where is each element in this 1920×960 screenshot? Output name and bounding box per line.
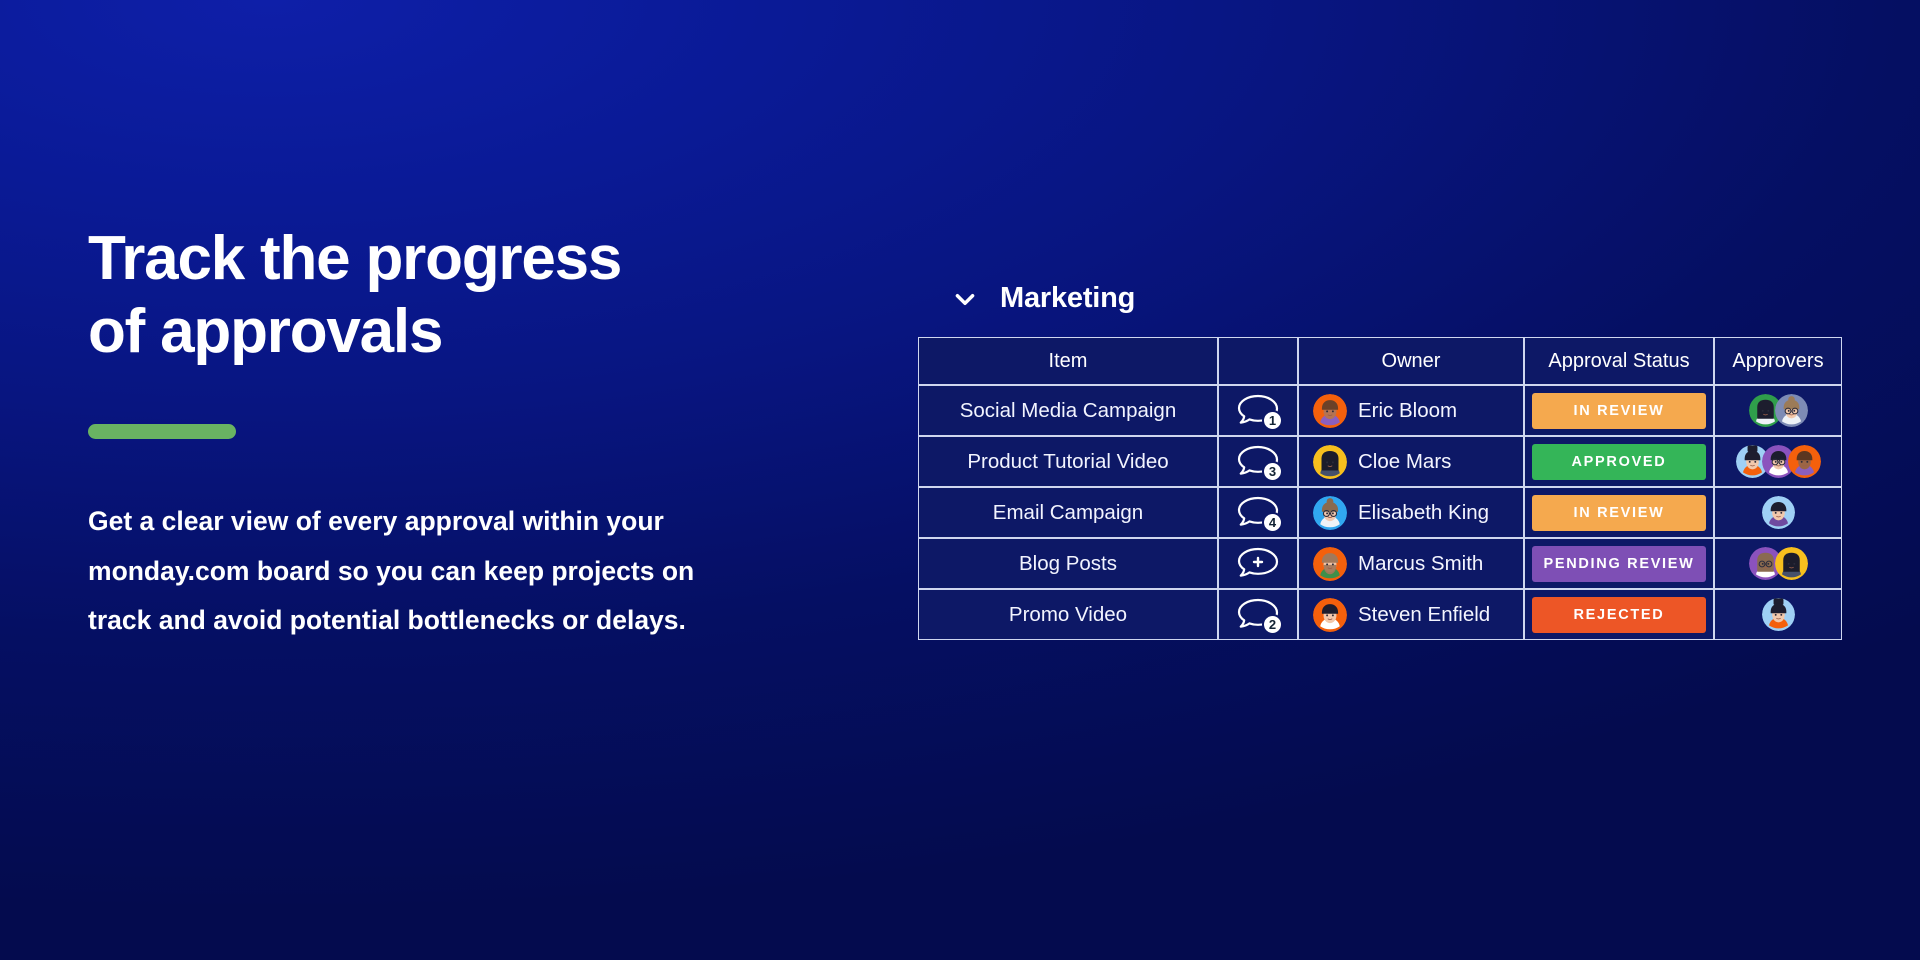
- cell-comments[interactable]: 2: [1218, 589, 1298, 640]
- approver-avatar-group: [1715, 394, 1841, 427]
- comment-count: 1: [1262, 410, 1283, 431]
- board-panel: Marketing Item Owner Approval Status App…: [918, 282, 1842, 640]
- comment-bubble-icon[interactable]: 2: [1235, 598, 1281, 632]
- cell-approvers[interactable]: [1714, 589, 1842, 640]
- approver-avatar-group: [1715, 598, 1841, 631]
- comment-bubble-icon[interactable]: 1: [1235, 394, 1281, 428]
- cell-comments[interactable]: 1: [1218, 385, 1298, 436]
- comment-bubble-icon[interactable]: 3: [1235, 445, 1281, 479]
- cell-comments[interactable]: [1218, 538, 1298, 589]
- cell-approvers[interactable]: [1714, 538, 1842, 589]
- table-header-row: Item Owner Approval Status Approvers: [918, 337, 1842, 385]
- avatar-orange-curly[interactable]: [1788, 445, 1821, 478]
- group-title: Marketing: [1000, 282, 1135, 315]
- avatar-yellow-long-hair[interactable]: [1775, 547, 1808, 580]
- comment-bubble-icon[interactable]: 4: [1235, 496, 1281, 530]
- cell-item[interactable]: Social Media Campaign: [918, 385, 1218, 436]
- accent-divider: [88, 424, 236, 439]
- cell-item[interactable]: Product Tutorial Video: [918, 436, 1218, 487]
- comment-count: 2: [1262, 614, 1283, 635]
- hero-description: Get a clear view of every approval withi…: [88, 497, 728, 645]
- comment-count: 3: [1262, 461, 1283, 482]
- cell-item[interactable]: Blog Posts: [918, 538, 1218, 589]
- avatar-yellow-long-hair: [1313, 445, 1347, 479]
- cell-approvers[interactable]: [1714, 385, 1842, 436]
- cell-item[interactable]: Promo Video: [918, 589, 1218, 640]
- avatar-orange-black-hair: [1313, 598, 1347, 632]
- cell-status[interactable]: REJECTED: [1524, 589, 1714, 640]
- page-title: Track the progress of approvals: [88, 222, 808, 368]
- owner-name: Elisabeth King: [1358, 501, 1489, 525]
- cell-item[interactable]: Email Campaign: [918, 487, 1218, 538]
- cell-approvers[interactable]: [1714, 436, 1842, 487]
- cell-owner[interactable]: Marcus Smith: [1298, 538, 1524, 589]
- avatar-lightblue-dark-hair[interactable]: [1762, 496, 1795, 529]
- approver-avatar-group: [1715, 445, 1841, 478]
- cell-owner[interactable]: Elisabeth King: [1298, 487, 1524, 538]
- cell-status[interactable]: PENDING REVIEW: [1524, 538, 1714, 589]
- avatar-blue-glasses: [1313, 496, 1347, 530]
- cell-approvers[interactable]: [1714, 487, 1842, 538]
- cell-comments[interactable]: 3: [1218, 436, 1298, 487]
- column-header-item[interactable]: Item: [918, 337, 1218, 385]
- approver-avatar-group: [1715, 496, 1841, 529]
- avatar-orange-brown-hair: [1313, 394, 1347, 428]
- approvals-table: Item Owner Approval Status Approvers Soc…: [918, 337, 1842, 640]
- owner-name: Steven Enfield: [1358, 603, 1490, 627]
- table-row[interactable]: Product Tutorial Video 3 Cloe Mars APPRO…: [918, 436, 1842, 487]
- column-header-approvers[interactable]: Approvers: [1714, 337, 1842, 385]
- slide-root: Track the progress of approvals Get a cl…: [0, 0, 1920, 960]
- cell-comments[interactable]: 4: [1218, 487, 1298, 538]
- status-badge[interactable]: REJECTED: [1532, 597, 1706, 633]
- table-body: Social Media Campaign 1 Eric Bloom IN RE…: [918, 385, 1842, 640]
- column-header-status[interactable]: Approval Status: [1524, 337, 1714, 385]
- column-header-owner[interactable]: Owner: [1298, 337, 1524, 385]
- owner-name: Cloe Mars: [1358, 450, 1451, 474]
- table-row[interactable]: Email Campaign 4 Elisabeth King IN REVIE…: [918, 487, 1842, 538]
- group-header[interactable]: Marketing: [918, 282, 1842, 315]
- owner-name: Eric Bloom: [1358, 399, 1457, 423]
- status-badge[interactable]: IN REVIEW: [1532, 495, 1706, 531]
- table-row[interactable]: Promo Video 2 Steven Enfield REJECTED: [918, 589, 1842, 640]
- avatar-lightblue-bun[interactable]: [1762, 598, 1795, 631]
- owner-name: Marcus Smith: [1358, 552, 1483, 576]
- cell-status[interactable]: IN REVIEW: [1524, 487, 1714, 538]
- status-badge[interactable]: PENDING REVIEW: [1532, 546, 1706, 582]
- avatar-slate-glasses[interactable]: [1775, 394, 1808, 427]
- cell-status[interactable]: APPROVED: [1524, 436, 1714, 487]
- status-badge[interactable]: APPROVED: [1532, 444, 1706, 480]
- status-badge[interactable]: IN REVIEW: [1532, 393, 1706, 429]
- approver-avatar-group: [1715, 547, 1841, 580]
- table-row[interactable]: Social Media Campaign 1 Eric Bloom IN RE…: [918, 385, 1842, 436]
- add-comment-bubble-icon[interactable]: [1235, 547, 1281, 581]
- comment-count: 4: [1262, 512, 1283, 533]
- cell-status[interactable]: IN REVIEW: [1524, 385, 1714, 436]
- column-header-blank[interactable]: [1218, 337, 1298, 385]
- chevron-down-icon[interactable]: [952, 286, 978, 312]
- table-row[interactable]: Blog Posts Marcus Smith PENDING REVIEW: [918, 538, 1842, 589]
- cell-owner[interactable]: Cloe Mars: [1298, 436, 1524, 487]
- cell-owner[interactable]: Steven Enfield: [1298, 589, 1524, 640]
- hero-text-block: Track the progress of approvals Get a cl…: [88, 222, 808, 645]
- avatar-orange-beard: [1313, 547, 1347, 581]
- cell-owner[interactable]: Eric Bloom: [1298, 385, 1524, 436]
